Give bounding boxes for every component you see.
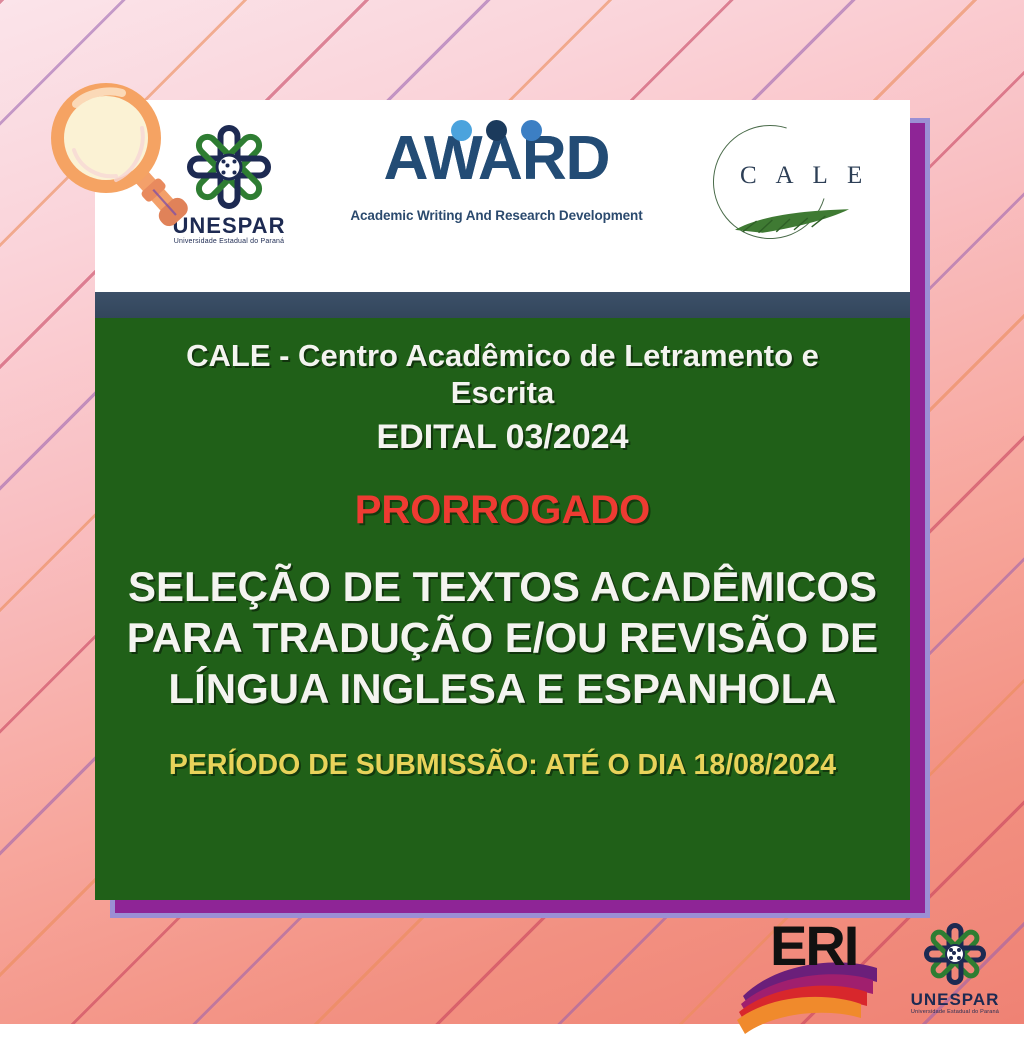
logo-header: UNESPAR Universidade Estadual do Paraná …	[95, 100, 910, 292]
headline-line-3: LÍNGUA INGLESA E ESPANHOLA	[113, 663, 892, 714]
poster-body: CALE - Centro Acadêmico de Letramento e …	[95, 318, 910, 900]
award-tagline: Academic Writing And Research Developmen…	[350, 208, 642, 223]
poster-card: UNESPAR Universidade Estadual do Paraná …	[95, 100, 910, 900]
cale-leaf-icon	[733, 208, 851, 234]
edital-line: EDITAL 03/2024	[105, 417, 900, 458]
org-line: CALE - Centro Acadêmico de Letramento e …	[131, 338, 874, 411]
unespar-footer-logo: UNESPAR Universidade Estadual do Paraná	[905, 920, 1005, 1015]
award-wordmark-group: AWARD	[350, 128, 642, 206]
unespar-footer-wordmark: UNESPAR	[905, 991, 1005, 1008]
status-badge: PRORROGADO	[105, 488, 900, 533]
award-people-icon	[436, 120, 556, 141]
headline-line-1: SELEÇÃO DE TEXTOS ACADÊMICOS	[113, 561, 892, 612]
deadline-line: PERÍODO DE SUBMISSÃO: ATÉ O DIA 18/08/20…	[105, 749, 900, 782]
eri-wordmark: ERI	[770, 918, 857, 974]
cale-logo: C A L E	[705, 120, 880, 240]
unespar-pinwheel-icon	[919, 920, 991, 988]
eri-logo: ERI	[748, 918, 888, 1014]
headline-line-2: PARA TRADUÇÃO E/OU REVISÃO DE	[113, 612, 892, 663]
award-logo: AWARD Academic Writing And Research Deve…	[350, 128, 642, 223]
unespar-footer-subtitle: Universidade Estadual do Paraná	[905, 1009, 1005, 1015]
cale-wordmark: C A L E	[740, 162, 869, 190]
header-divider	[95, 292, 910, 318]
magnifying-glass-icon	[36, 76, 196, 256]
